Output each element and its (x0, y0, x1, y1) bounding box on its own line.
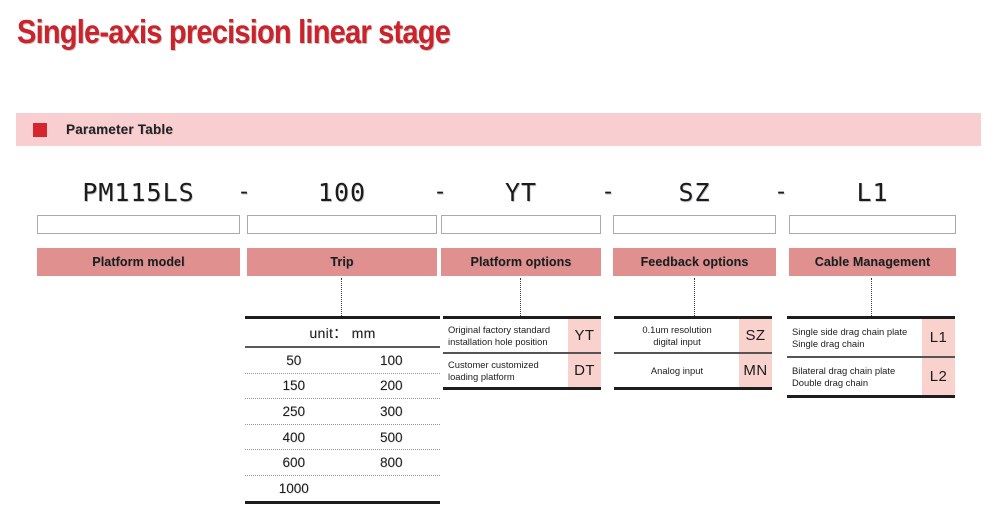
trip-value-cell: 100 (343, 348, 441, 373)
option-row: 0.1um resolutiondigital inputSZ (614, 319, 772, 354)
trip-value-cell: 600 (245, 450, 343, 475)
option-row: Analog inputMN (614, 354, 772, 387)
trip-value-cell: 50 (245, 348, 343, 373)
page-title: Single-axis precision linear stage (17, 13, 450, 51)
option-description: Customer customizedloading platform (443, 354, 568, 387)
connector-trip (341, 278, 342, 316)
trip-table-header: unit： mm (245, 319, 440, 348)
code-segment-feedback-options: SZ (613, 172, 776, 212)
option-row: Single side drag chain plateSingle drag … (787, 319, 955, 358)
trip-table-row: 50100 (245, 348, 440, 374)
square-bullet-icon (33, 123, 47, 137)
trip-table-row: 400500 (245, 425, 440, 451)
connector-cable-management (871, 278, 872, 316)
option-code-cell: L1 (922, 319, 955, 356)
option-code-cell: L2 (922, 358, 955, 395)
option-row: Bilateral drag chain plateDouble drag ch… (787, 358, 955, 395)
trip-table-body: 501001502002503004005006008001000 (245, 348, 440, 501)
option-description: Bilateral drag chain plateDouble drag ch… (787, 358, 922, 395)
option-description: Analog input (614, 354, 739, 387)
trip-value-cell: 300 (343, 399, 441, 424)
feedback-options-table: 0.1um resolutiondigital inputSZAnalog in… (614, 316, 772, 390)
trip-value-cell: 200 (343, 374, 441, 399)
label-feedback-options: Feedback options (613, 248, 776, 276)
input-platform-model[interactable] (37, 215, 240, 234)
label-platform-options: Platform options (441, 248, 601, 276)
option-description: 0.1um resolutiondigital input (614, 319, 739, 352)
trip-value-cell: 500 (343, 425, 441, 450)
trip-table-row: 250300 (245, 399, 440, 425)
input-trip[interactable] (247, 215, 437, 234)
connector-platform-options (520, 278, 521, 316)
trip-value-cell: 400 (245, 425, 343, 450)
input-platform-options[interactable] (441, 215, 601, 234)
trip-value-cell: 250 (245, 399, 343, 424)
input-cable-management[interactable] (789, 215, 956, 234)
option-code-cell: DT (568, 354, 601, 387)
code-segment-platform-options: YT (441, 172, 601, 212)
category-label-row: Platform model Trip Platform options Fee… (0, 248, 994, 278)
section-title: Parameter Table (66, 122, 173, 137)
trip-value-cell: 1000 (245, 476, 343, 501)
trip-table-row: 1000 (245, 476, 440, 501)
label-cable-management: Cable Management (789, 248, 956, 276)
code-segment-trip: 100 (247, 172, 437, 212)
label-platform-model: Platform model (37, 248, 240, 276)
trip-value-cell (343, 476, 441, 501)
parameter-table-banner: Parameter Table (16, 113, 981, 146)
code-segment-platform-model: PM115LS (37, 172, 240, 212)
input-feedback-options[interactable] (613, 215, 776, 234)
option-row: Customer customizedloading platformDT (443, 354, 601, 387)
cable-management-table: Single side drag chain plateSingle drag … (787, 316, 955, 398)
trip-table-row: 150200 (245, 374, 440, 400)
option-code-cell: SZ (739, 319, 772, 352)
input-box-row (0, 215, 994, 236)
option-code-cell: MN (739, 354, 772, 387)
option-description: Original factory standardinstallation ho… (443, 319, 568, 352)
option-description: Single side drag chain plateSingle drag … (787, 319, 922, 356)
trip-table-row: 600800 (245, 450, 440, 476)
connector-feedback-options (694, 278, 695, 316)
code-segment-cable-management: L1 (789, 172, 956, 212)
option-row: Original factory standardinstallation ho… (443, 319, 601, 354)
trip-value-cell: 800 (343, 450, 441, 475)
trip-table: unit： mm 5010015020025030040050060080010… (245, 316, 440, 504)
platform-options-table: Original factory standardinstallation ho… (443, 316, 601, 390)
label-trip: Trip (247, 248, 437, 276)
option-code-cell: YT (568, 319, 601, 352)
trip-value-cell: 150 (245, 374, 343, 399)
model-code-row: PM115LS - 100 - YT - SZ - L1 (0, 172, 994, 212)
page-root: Single-axis precision linear stage Param… (0, 0, 994, 512)
